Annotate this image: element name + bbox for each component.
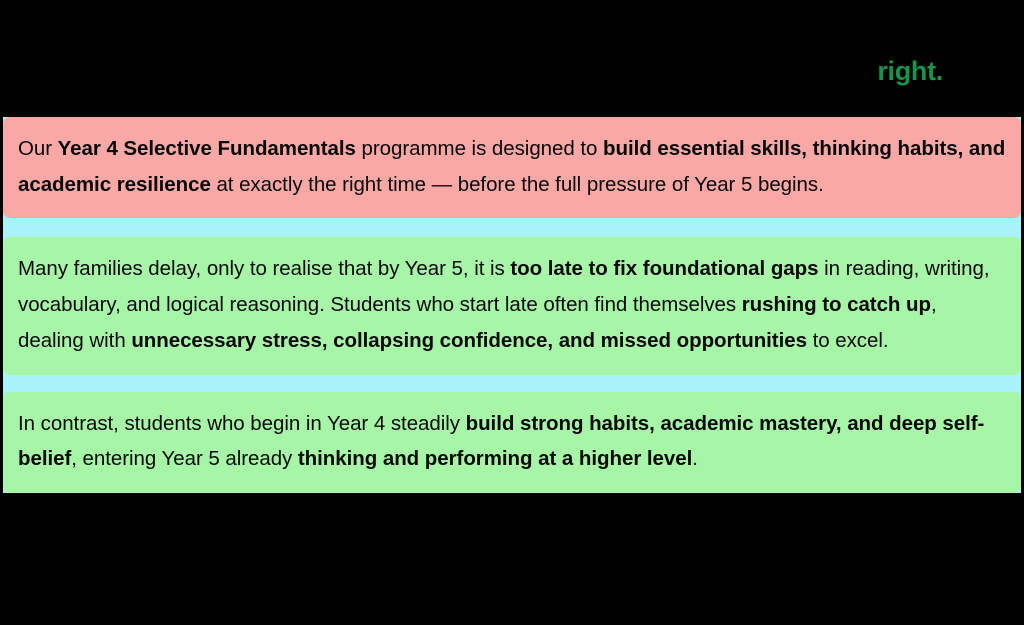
page-header: right. [0,0,1024,112]
callout-text-success: In contrast, students who begin in Year … [18,406,1006,477]
callout-panel-warning: Many families delay, only to realise tha… [3,237,1021,374]
callout-panel-info: Our Year 4 Selective Fundamentals progra… [3,117,1021,218]
callout-panel-success: In contrast, students who begin in Year … [3,392,1021,493]
page-root: right. Our Year 4 Selective Fundamentals… [0,0,1024,625]
callout-text-info: Our Year 4 Selective Fundamentals progra… [18,131,1006,202]
callout-text-warning: Many families delay, only to realise tha… [18,251,1006,358]
callout-panel-stack: Our Year 4 Selective Fundamentals progra… [3,117,1021,493]
brand-wordmark: right. [877,58,943,85]
